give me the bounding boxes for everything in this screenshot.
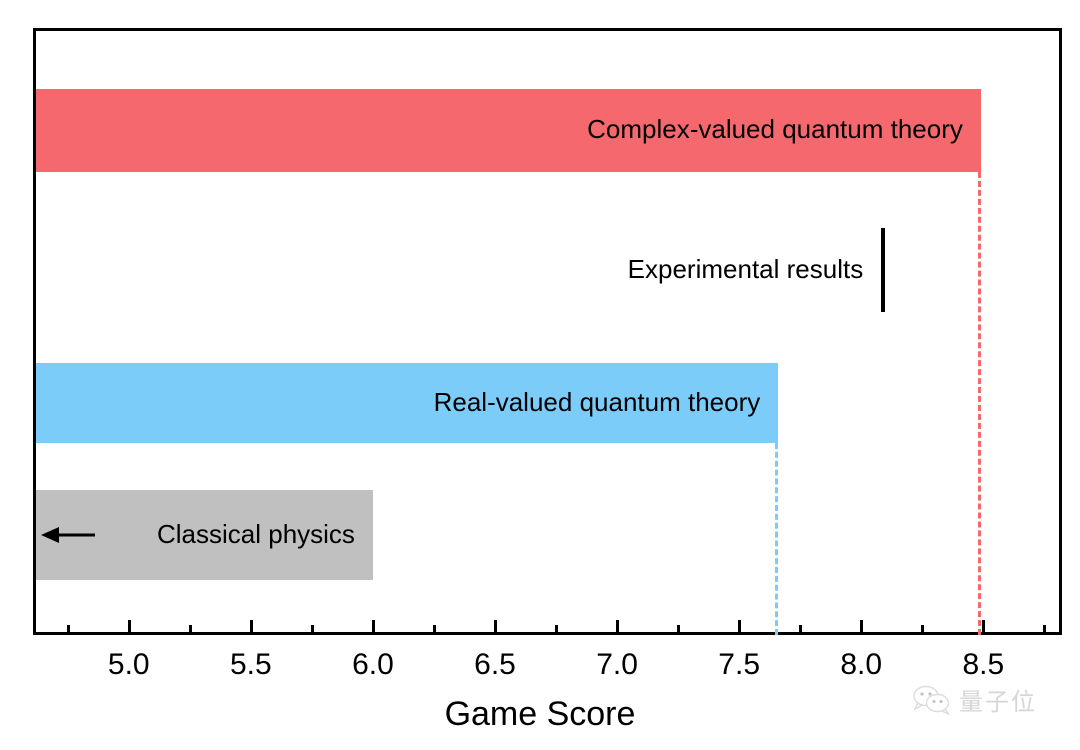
x-tick-label: 7.5 bbox=[718, 650, 760, 680]
x-tick-major bbox=[860, 620, 863, 633]
plot-area: Complex-valued quantum theory Experiment… bbox=[33, 28, 1062, 635]
x-tick-label: 6.5 bbox=[474, 650, 516, 680]
experimental-results-marker bbox=[881, 228, 885, 312]
watermark: 量子位 bbox=[912, 685, 1037, 720]
x-tick-major bbox=[982, 620, 985, 633]
x-tick-label: 7.0 bbox=[596, 650, 638, 680]
x-tick-major bbox=[738, 620, 741, 633]
x-tick-minor bbox=[555, 625, 558, 633]
guide-line-real bbox=[775, 443, 778, 635]
x-tick-label: 6.0 bbox=[352, 650, 394, 680]
x-tick-minor bbox=[67, 625, 70, 633]
x-tick-minor bbox=[189, 625, 192, 633]
x-tick-minor bbox=[799, 625, 802, 633]
x-tick-label: 8.0 bbox=[840, 650, 882, 680]
watermark-text: 量子位 bbox=[959, 691, 1037, 715]
x-tick-minor bbox=[1043, 625, 1046, 633]
x-tick-minor bbox=[921, 625, 924, 633]
bar-label-real-valued-quantum-theory: Real-valued quantum theory bbox=[434, 389, 761, 415]
x-tick-minor bbox=[677, 625, 680, 633]
bar-label-complex-valued-quantum-theory: Complex-valued quantum theory bbox=[587, 116, 963, 142]
label-experimental-results: Experimental results bbox=[628, 256, 864, 282]
game-score-bar-chart: Complex-valued quantum theory Experiment… bbox=[0, 0, 1080, 750]
x-tick-major bbox=[250, 620, 253, 633]
wechat-icon bbox=[912, 685, 952, 720]
x-tick-major bbox=[128, 620, 131, 633]
x-tick-label: 5.0 bbox=[108, 650, 150, 680]
bar-label-classical-physics: Classical physics bbox=[157, 521, 355, 547]
x-tick-label: 5.5 bbox=[230, 650, 272, 680]
guide-line-complex bbox=[978, 172, 981, 635]
x-tick-major bbox=[616, 620, 619, 633]
x-tick-minor bbox=[433, 625, 436, 633]
x-tick-label: 8.5 bbox=[962, 650, 1004, 680]
left-arrow-icon bbox=[39, 523, 99, 552]
x-tick-major bbox=[372, 620, 375, 633]
x-tick-major bbox=[494, 620, 497, 633]
x-tick-minor bbox=[311, 625, 314, 633]
